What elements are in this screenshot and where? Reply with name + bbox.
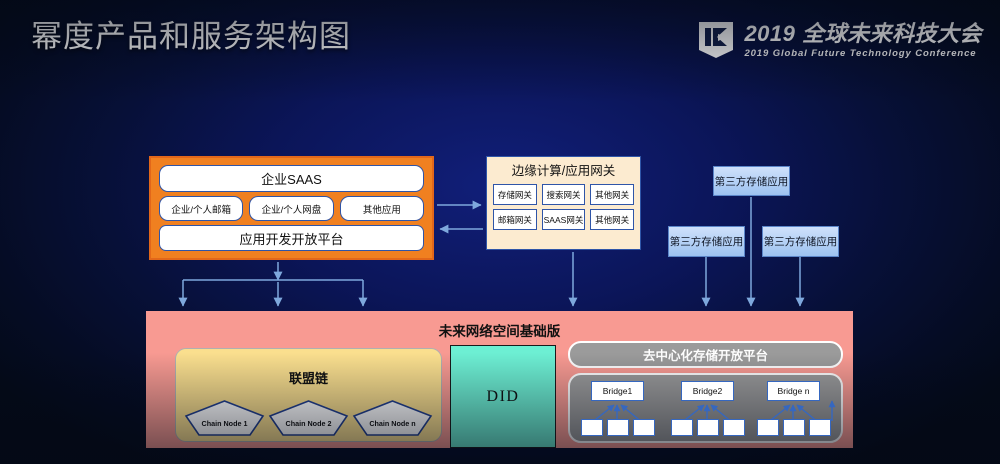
decentralized-storage-platform-header: 去中心化存储开放平台 xyxy=(568,341,843,368)
bridge-group-n: Bridge n xyxy=(754,375,836,441)
consortium-chain-panel: 联盟链 Chain Node 1 Chain Node 2 xyxy=(175,348,442,442)
bridge-1-leaf-2[interactable] xyxy=(607,419,629,436)
bridge-1-leaf-1[interactable] xyxy=(581,419,603,436)
chain-node-1[interactable]: Chain Node 1 xyxy=(184,399,265,437)
gateway-other-2[interactable]: 其他网关 xyxy=(590,209,634,230)
logo-main-text: 2019 全球未来科技大会 xyxy=(744,22,982,46)
enterprise-saas-panel: 企业SAAS 企业/个人邮箱 企业/个人网盘 其他应用 应用开发开放平台 xyxy=(149,156,434,260)
chain-node-1-label: Chain Node 1 xyxy=(184,419,265,428)
conference-logo: 2019 全球未来科技大会 2019 Global Future Technol… xyxy=(697,20,982,60)
base-panel-title: 未来网络空间基础版 xyxy=(146,320,853,340)
enterprise-saas-title[interactable]: 企业SAAS xyxy=(159,165,424,192)
gateway-grid: 存储网关 搜索网关 其他网关 邮箱网关 SAAS网关 其他网关 xyxy=(493,184,634,230)
saas-app-netdisk[interactable]: 企业/个人网盘 xyxy=(249,196,333,221)
slide-canvas: 幂度产品和服务架构图 2019 全球未来科技大会 2019 Global Fut… xyxy=(0,0,1000,464)
saas-app-other[interactable]: 其他应用 xyxy=(340,196,424,221)
app-dev-open-platform[interactable]: 应用开发开放平台 xyxy=(159,225,424,251)
edge-computing-gateway-panel: 边缘计算/应用网关 存储网关 搜索网关 其他网关 邮箱网关 SAAS网关 其他网… xyxy=(486,156,641,250)
chain-node-n-label: Chain Node n xyxy=(352,419,433,428)
bridge-2-leaf-1[interactable] xyxy=(671,419,693,436)
third-party-storage-app-top[interactable]: 第三方存储应用 xyxy=(713,166,790,196)
logo-sub-text: 2019 Global Future Technology Conference xyxy=(744,48,982,59)
bridge-group-2: Bridge2 xyxy=(668,375,750,441)
third-party-storage-app-left[interactable]: 第三方存储应用 xyxy=(668,226,745,257)
future-cyberspace-base-panel: 未来网络空间基础版 联盟链 Chain Node 1 Chain Node 2 xyxy=(146,311,853,448)
saas-app-row: 企业/个人邮箱 企业/个人网盘 其他应用 xyxy=(159,196,424,221)
chain-node-2-label: Chain Node 2 xyxy=(268,419,349,428)
saas-app-mail[interactable]: 企业/个人邮箱 xyxy=(159,196,243,221)
gateway-storage[interactable]: 存储网关 xyxy=(493,184,537,205)
bridge-1-leaf-3[interactable] xyxy=(633,419,655,436)
bridge-2-leaf-3[interactable] xyxy=(723,419,745,436)
conference-logo-mark-icon xyxy=(697,20,735,60)
did-box[interactable]: DID xyxy=(450,345,556,448)
bridge-1[interactable]: Bridge1 xyxy=(591,381,644,401)
consortium-chain-title: 联盟链 xyxy=(176,368,441,387)
gateway-search[interactable]: 搜索网关 xyxy=(542,184,586,205)
decentralized-storage-platform-body: Bridge1 xyxy=(568,373,843,443)
chain-node-row: Chain Node 1 Chain Node 2 Chain Node n xyxy=(184,399,433,437)
edge-panel-title: 边缘计算/应用网关 xyxy=(493,162,634,180)
bridge-2[interactable]: Bridge2 xyxy=(681,381,734,401)
bridge-n-leaf-2[interactable] xyxy=(783,419,805,436)
bridge-2-leaf-2[interactable] xyxy=(697,419,719,436)
page-title: 幂度产品和服务架构图 xyxy=(31,16,351,58)
gateway-saas[interactable]: SAAS网关 xyxy=(542,209,586,230)
gateway-other-1[interactable]: 其他网关 xyxy=(590,184,634,205)
chain-node-2[interactable]: Chain Node 2 xyxy=(268,399,349,437)
bridge-group-1: Bridge1 xyxy=(578,375,660,441)
bridge-n[interactable]: Bridge n xyxy=(767,381,820,401)
gateway-mail[interactable]: 邮箱网关 xyxy=(493,209,537,230)
bridge-n-leaf-1[interactable] xyxy=(757,419,779,436)
bridge-n-leaf-3[interactable] xyxy=(809,419,831,436)
third-party-storage-app-right[interactable]: 第三方存储应用 xyxy=(762,226,839,257)
chain-node-n[interactable]: Chain Node n xyxy=(352,399,433,437)
